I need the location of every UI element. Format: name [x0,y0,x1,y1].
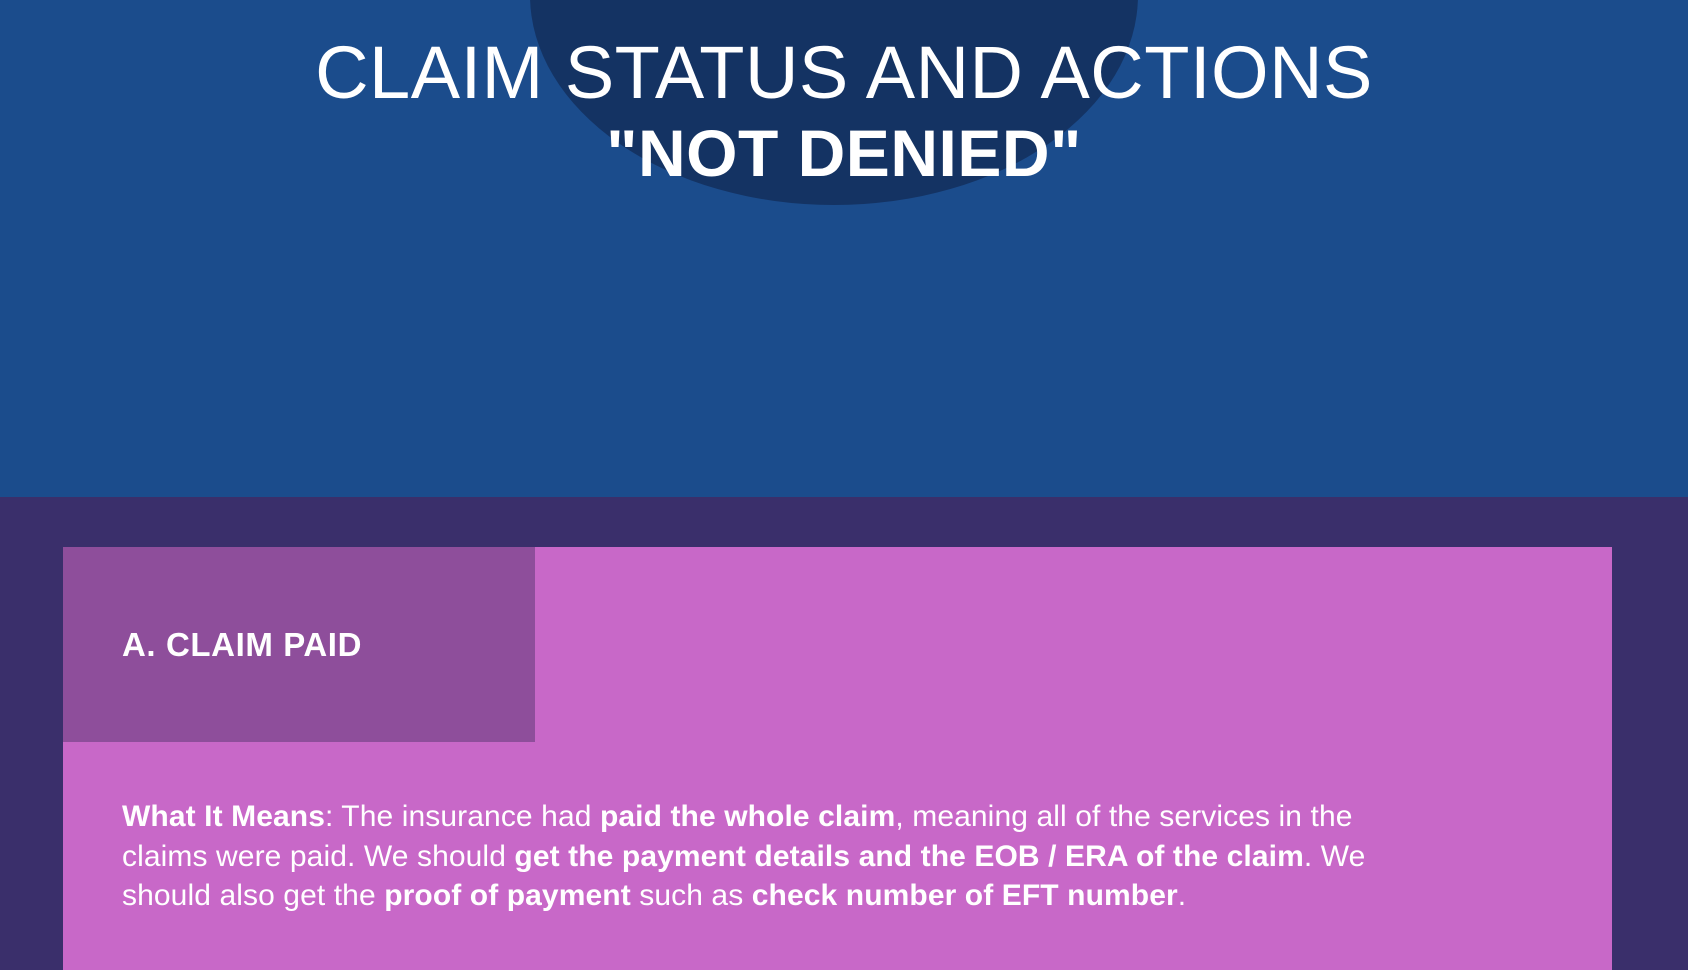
hero-title-block: CLAIM STATUS AND ACTIONS "NOT DENIED" [0,0,1688,193]
card-header-title: A. CLAIM PAID [63,626,362,664]
claim-paid-card: A. CLAIM PAID What It Means: The insuran… [63,547,1612,970]
page-title-line-1: CLAIM STATUS AND ACTIONS [0,32,1688,115]
card-body: What It Means: The insurance had paid th… [63,742,1612,916]
page-title-line-2: "NOT DENIED" [0,115,1688,193]
card-header: A. CLAIM PAID [63,547,535,742]
hero-banner: CLAIM STATUS AND ACTIONS "NOT DENIED" [0,0,1688,497]
content-stage: A. CLAIM PAID What It Means: The insuran… [0,497,1688,970]
card-body-paragraph: What It Means: The insurance had paid th… [122,797,1367,916]
